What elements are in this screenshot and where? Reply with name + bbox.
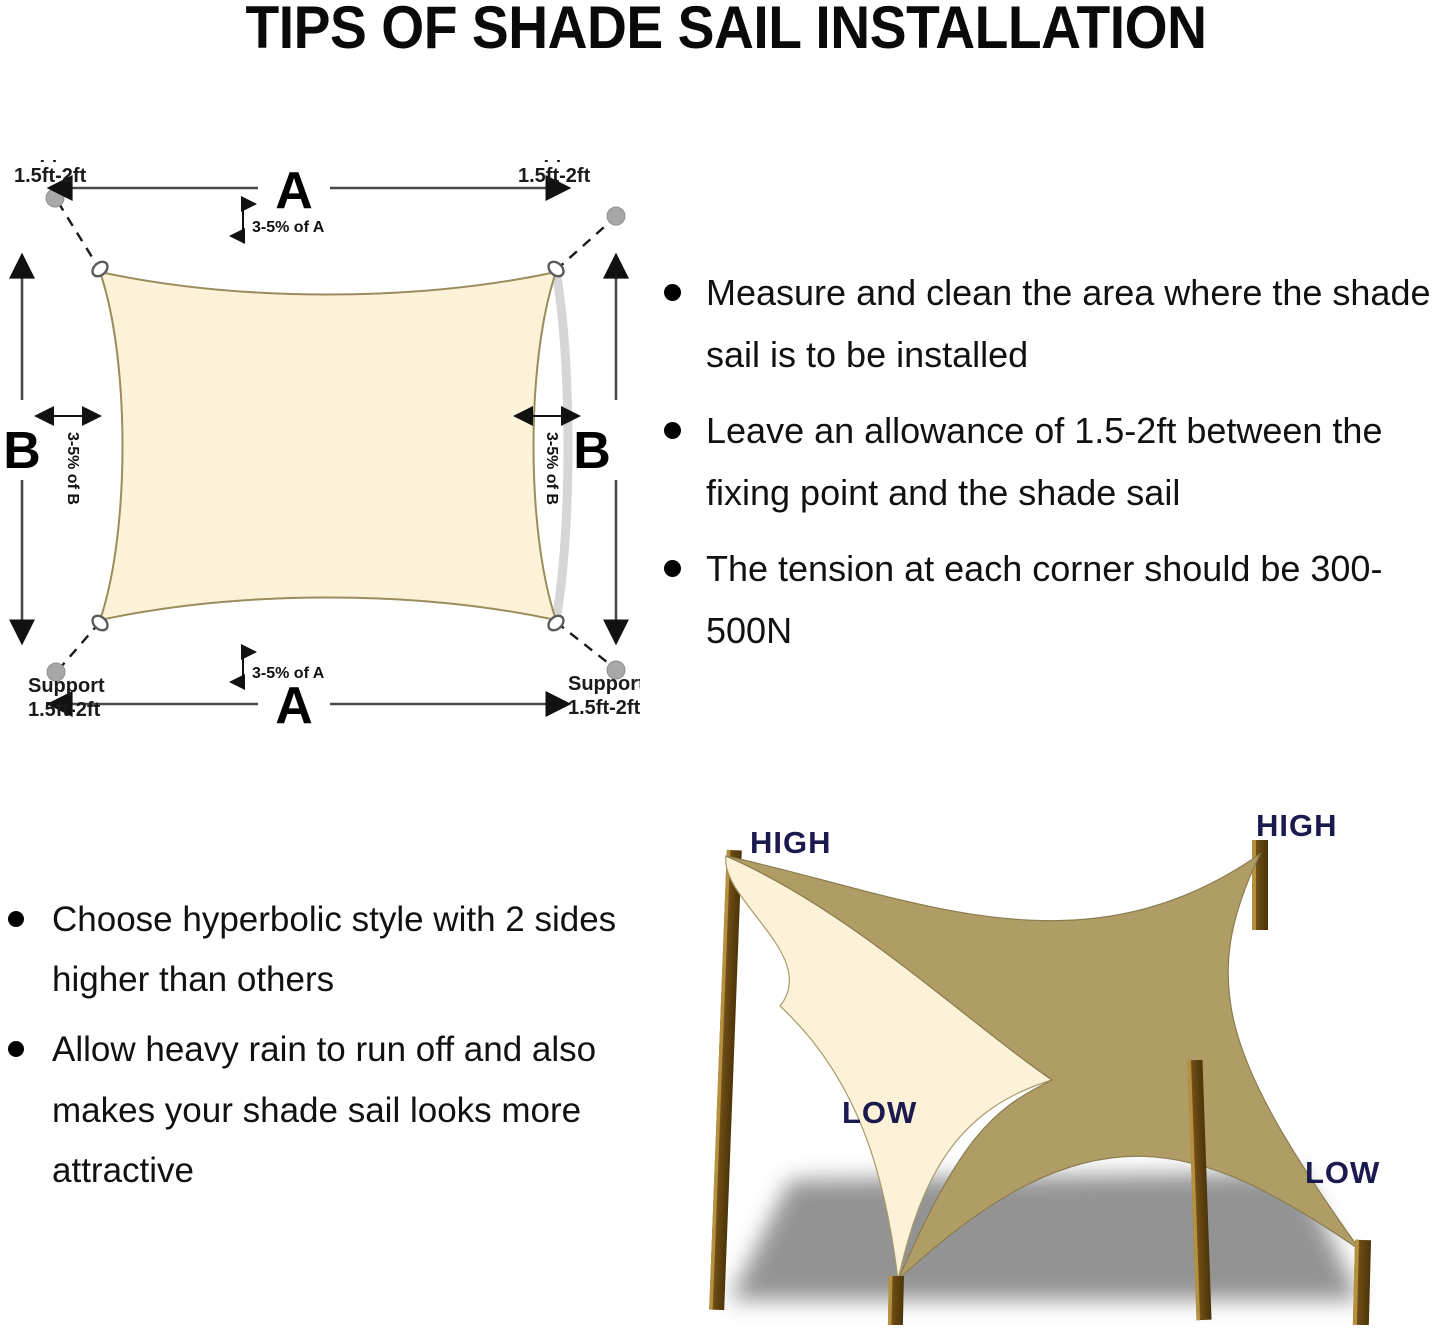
curve-percent-B-left-label: 3-5% of B bbox=[64, 432, 81, 505]
support-label-bottom-left: Support 1.5ft-2ft bbox=[28, 675, 105, 721]
bullet-dot-icon bbox=[8, 911, 24, 927]
installation-tips-list: Measure and clean the area where the sha… bbox=[648, 262, 1452, 675]
dimension-B-left: B bbox=[3, 276, 41, 622]
dimension-A-top: A bbox=[70, 162, 548, 220]
bullet-dot-icon bbox=[664, 284, 681, 301]
bullet-dot-icon bbox=[664, 422, 681, 439]
label-low-right-overlay: LOW bbox=[1305, 1155, 1380, 1191]
tips-bullet-list: Measure and clean the area where the sha… bbox=[648, 262, 1452, 661]
dimension-B-left-label: B bbox=[3, 422, 41, 480]
rect-diagram-svg: A 3-5% of A A 3-5% of A B 3-5% of B bbox=[0, 160, 640, 730]
support-label-bottom-right: Support 1.5ft-2ft bbox=[568, 673, 640, 719]
support-label-top-right: Support 1.5ft-2ft bbox=[518, 160, 595, 187]
curve-percent-B-right: 3-5% of B bbox=[531, 416, 563, 505]
style-bullet-list: Choose hyperbolic style with 2 sides hig… bbox=[0, 890, 630, 1201]
support-label-top-left: Support 1.5ft-2ft bbox=[14, 160, 91, 187]
support-label-bottom-left-line1: Support bbox=[28, 675, 105, 697]
dimension-A-bottom: A bbox=[70, 677, 548, 730]
page-title: TIPS OF SHADE SAIL INSTALLATION bbox=[58, 0, 1394, 59]
dimension-B-right-label: B bbox=[573, 422, 611, 480]
style-tip-text: Choose hyperbolic style with 2 sides hig… bbox=[52, 900, 616, 999]
list-item: Leave an allowance of 1.5-2ft between th… bbox=[648, 400, 1452, 524]
support-label-top-right-line2: 1.5ft-2ft bbox=[518, 165, 591, 187]
support-label-bottom-left-line2: 1.5ft-2ft bbox=[28, 699, 101, 721]
label-high-right-overlay: HIGH bbox=[1256, 808, 1338, 844]
support-label-top-left-line1: Support bbox=[14, 160, 91, 163]
support-label-bottom-right-line1: Support bbox=[568, 673, 640, 695]
curve-percent-A-bottom: 3-5% of A bbox=[243, 652, 325, 682]
curve-percent-A-top-label: 3-5% of A bbox=[252, 219, 325, 236]
tip-text: Leave an allowance of 1.5-2ft between th… bbox=[706, 410, 1382, 513]
list-item: Measure and clean the area where the sha… bbox=[648, 262, 1452, 386]
hyperbolic-sail-diagram: HIGH HIGH LOW LOW HIGH HIGH LOW LOW bbox=[660, 780, 1452, 1325]
hyperbolic-style-tips-list: Choose hyperbolic style with 2 sides hig… bbox=[0, 890, 630, 1211]
bullet-dot-icon bbox=[664, 560, 681, 577]
curve-percent-B-right-label: 3-5% of B bbox=[543, 432, 560, 505]
post-low-right bbox=[1353, 1240, 1371, 1325]
shade-sail-shape bbox=[100, 272, 556, 620]
dimension-A-top-label: A bbox=[275, 162, 313, 220]
label-low-left-overlay: LOW bbox=[842, 1095, 917, 1131]
post-low-left bbox=[887, 1276, 904, 1325]
rectangular-sail-diagram: A 3-5% of A A 3-5% of A B 3-5% of B bbox=[0, 160, 640, 730]
support-label-top-right-line1: Support bbox=[518, 160, 595, 163]
list-item: Choose hyperbolic style with 2 sides hig… bbox=[0, 890, 630, 1010]
post-high-left bbox=[709, 850, 742, 1310]
support-label-top-left-line2: 1.5ft-2ft bbox=[14, 165, 87, 187]
list-item: Allow heavy rain to run off and also mak… bbox=[0, 1020, 630, 1201]
dimension-B-right: B bbox=[573, 276, 616, 622]
label-high-left-overlay: HIGH bbox=[750, 825, 832, 861]
dimension-A-bottom-label: A bbox=[275, 677, 313, 730]
tip-text: The tension at each corner should be 300… bbox=[706, 548, 1382, 651]
curve-percent-B-left: 3-5% of B bbox=[52, 416, 84, 505]
curve-percent-A-bottom-label: 3-5% of A bbox=[252, 665, 325, 682]
support-label-bottom-right-line2: 1.5ft-2ft bbox=[568, 697, 640, 719]
tip-text: Measure and clean the area where the sha… bbox=[706, 272, 1430, 375]
hyper-diagram-svg: HIGH HIGH LOW LOW bbox=[660, 780, 1452, 1325]
list-item: The tension at each corner should be 300… bbox=[648, 538, 1452, 662]
bullet-dot-icon bbox=[8, 1041, 24, 1057]
style-tip-text: Allow heavy rain to run off and also mak… bbox=[52, 1030, 596, 1189]
